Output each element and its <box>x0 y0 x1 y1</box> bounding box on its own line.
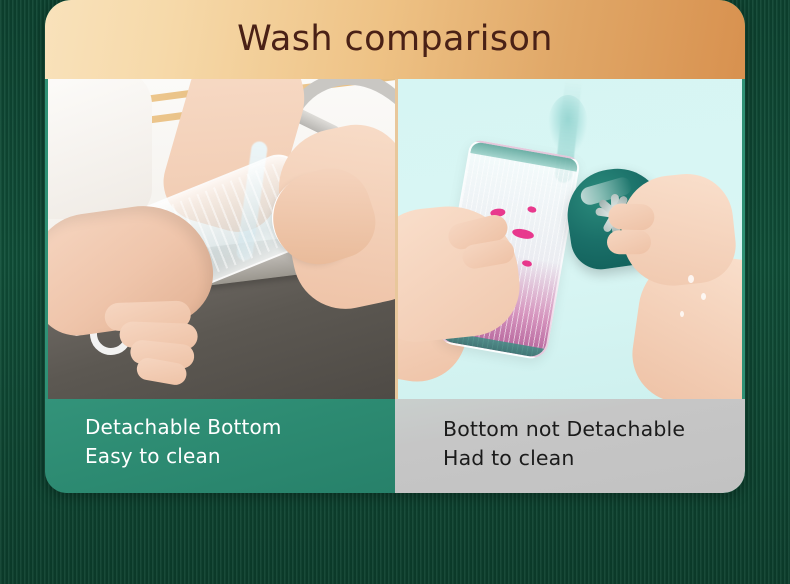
finger <box>607 230 651 254</box>
header-banner: Wash comparison <box>45 0 745 79</box>
caption-right-line-1: Bottom not Detachable <box>443 415 745 444</box>
caption-left-line-1: Detachable Bottom <box>85 413 395 442</box>
comparison-infographic-page: Wash comparison <box>0 0 790 584</box>
photo-non-detachable-cup-wash <box>395 79 742 399</box>
comparison-card: Wash comparison <box>45 0 745 493</box>
water-droplet <box>680 311 684 317</box>
caption-strip: Detachable Bottom Easy to clean Bottom n… <box>45 399 745 493</box>
water-droplet <box>688 275 694 283</box>
page-title: Wash comparison <box>45 13 745 65</box>
caption-not-detachable: Bottom not Detachable Had to clean <box>395 399 745 493</box>
finger <box>608 203 655 231</box>
caption-right-line-2: Had to clean <box>443 444 745 473</box>
person-torso <box>48 79 152 219</box>
caption-left-line-2: Easy to clean <box>85 442 395 471</box>
water-droplet <box>701 293 706 300</box>
caption-detachable-bottom: Detachable Bottom Easy to clean <box>45 399 395 493</box>
photo-detachable-bottle-wash <box>48 79 395 399</box>
photo-comparison-strip <box>48 79 742 399</box>
